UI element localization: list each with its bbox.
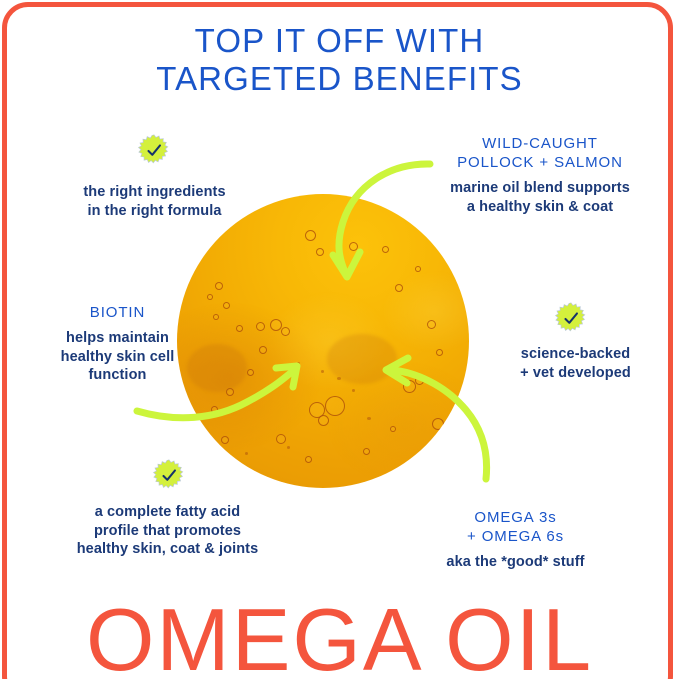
oil-bubble [395, 284, 403, 292]
page-title-line-1: TOP IT OFF WITH [0, 22, 679, 60]
oil-speck [297, 362, 300, 365]
oil-bubble [403, 380, 416, 393]
callout-body: the right ingredients in the right formu… [27, 183, 282, 220]
oil-bubble [281, 327, 290, 336]
oil-bubble [443, 426, 451, 434]
oil-bubble [236, 325, 243, 332]
oil-bubble [259, 346, 267, 354]
oil-bubble [256, 322, 265, 331]
oil-bubble [436, 349, 443, 356]
callout-biotin: BIOTIN helps maintain healthy skin cell … [10, 303, 225, 385]
oil-bubble [316, 248, 324, 256]
callout-omega: OMEGA 3s + OMEGA 6s aka the *good* stuff [398, 508, 633, 572]
callout-body: marine oil blend supports a healthy skin… [415, 179, 665, 216]
oil-speck [321, 370, 324, 373]
oil-bubble [363, 448, 370, 455]
callout-title: BIOTIN [10, 303, 225, 322]
oil-bubble [270, 319, 282, 331]
oil-speck [287, 446, 290, 449]
oil-bubble [390, 426, 396, 432]
check-badge-icon [137, 134, 171, 168]
product-wordmark: OMEGA OIL [0, 596, 679, 679]
callout-right-ingredients: the right ingredients in the right formu… [27, 183, 282, 220]
oil-bubble [221, 436, 229, 444]
check-badge-icon [554, 302, 588, 336]
callout-fatty-acid: a complete fatty acid profile that promo… [40, 503, 295, 559]
callout-body: science-backed + vet developed [483, 345, 668, 382]
oil-bubble [247, 369, 254, 376]
callout-body: a complete fatty acid profile that promo… [40, 503, 295, 559]
oil-bubble [349, 242, 358, 251]
oil-speck [367, 417, 371, 420]
callout-wild-caught: WILD-CAUGHT POLLOCK + SALMON marine oil … [415, 134, 665, 216]
oil-bubble [382, 246, 389, 253]
oil-bubble [305, 230, 316, 241]
oil-bubble [318, 415, 329, 426]
infographic-page: TOP IT OFF WITH TARGETED BENEFITS [0, 0, 679, 679]
callout-title: OMEGA 3s + OMEGA 6s [398, 508, 633, 546]
oil-bubble [207, 294, 213, 300]
callout-title: WILD-CAUGHT POLLOCK + SALMON [415, 134, 665, 172]
oil-bubble [305, 456, 312, 463]
check-badge-icon [152, 459, 186, 493]
oil-bubble [325, 396, 345, 416]
oil-bubble [415, 266, 421, 272]
page-title: TOP IT OFF WITH TARGETED BENEFITS [0, 22, 679, 98]
callout-science-backed: science-backed + vet developed [483, 345, 668, 382]
oil-bubble [427, 320, 436, 329]
oil-bubble [211, 406, 218, 413]
oil-speck [352, 389, 355, 392]
oil-bubble [415, 376, 424, 385]
oil-smudge [327, 334, 397, 384]
oil-speck [245, 452, 248, 455]
page-title-line-2: TARGETED BENEFITS [0, 60, 679, 98]
callout-body: helps maintain healthy skin cell functio… [10, 329, 225, 385]
oil-bubble [215, 282, 223, 290]
oil-bubble [276, 434, 286, 444]
callout-body: aka the *good* stuff [398, 553, 633, 572]
